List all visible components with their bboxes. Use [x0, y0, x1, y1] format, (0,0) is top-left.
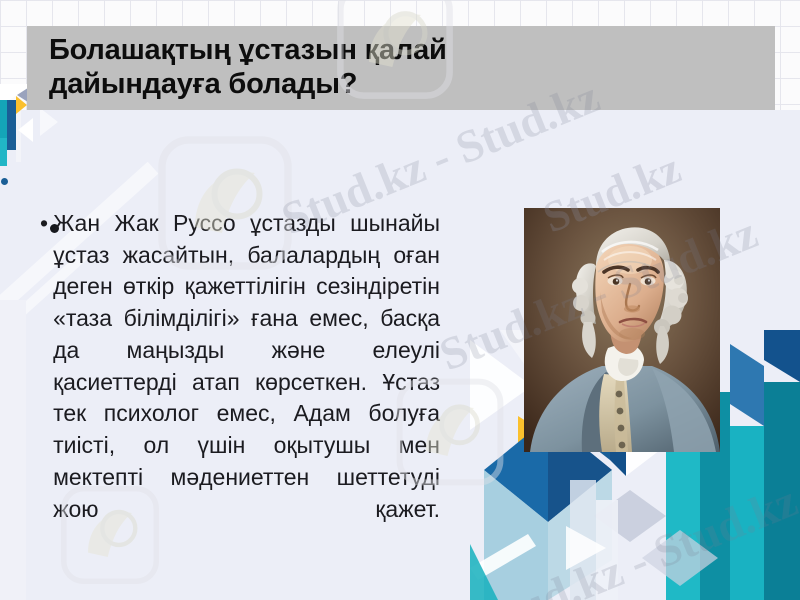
page-title: Болашақтың ұстазын қалай дайындауға бола… [27, 34, 447, 101]
cyan-bar-decoration [0, 138, 7, 166]
navy-bar-decoration [7, 100, 16, 150]
slide-title-bar: Болашақтың ұстазын қалай дайындауға бола… [27, 26, 775, 110]
navy-dot-decoration [1, 178, 8, 185]
teal-bar-decoration [0, 100, 7, 138]
light-streak-decoration [482, 520, 589, 600]
list-item: • Жан Жак Руссо ұстазды шынайы ұстаз жас… [40, 208, 440, 525]
left-edge-panel [0, 300, 26, 600]
portrait-artwork [524, 208, 720, 452]
slide-body-content: • Жан Жак Руссо ұстазды шынайы ұстаз жас… [40, 208, 440, 525]
white-bar-decoration [16, 100, 21, 162]
rousseau-portrait-image [524, 208, 720, 452]
watermark-text: Stud.kz - Stud.kz [472, 474, 800, 600]
slide-canvas: Stud.kz - Stud.kz Stud.kz - Stud.kz Stud… [0, 0, 800, 600]
white-triangle-decoration [40, 108, 58, 136]
body-paragraph: Жан Жак Руссо ұстазды шынайы ұстаз жасай… [53, 208, 440, 525]
bullet-point-icon: • [40, 208, 48, 240]
